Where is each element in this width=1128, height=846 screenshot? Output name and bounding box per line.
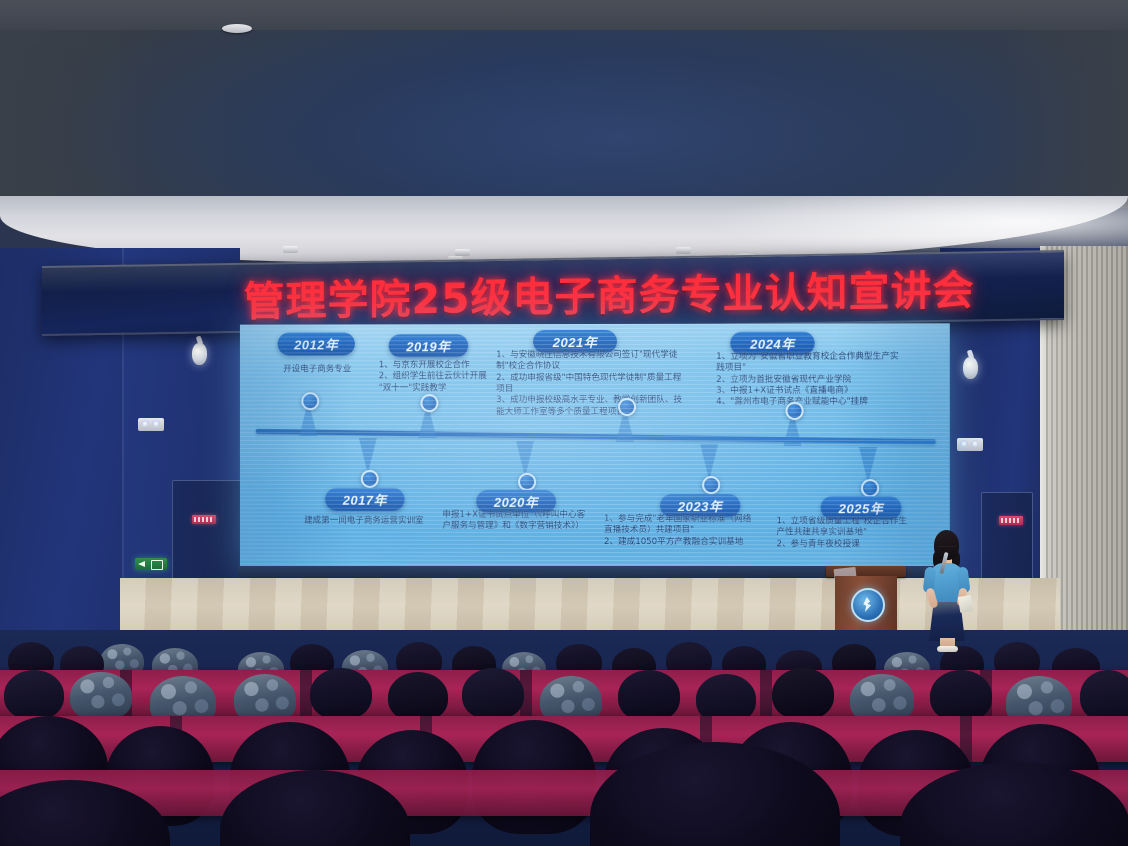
spotlight-icon — [192, 336, 207, 366]
ceiling-recessed-panel — [0, 30, 1128, 208]
emergency-light-icon — [957, 438, 983, 451]
audience-head — [4, 670, 64, 720]
timeline-connector-down — [859, 447, 877, 483]
audience-head — [618, 670, 680, 722]
timeline-node — [786, 402, 804, 420]
exit-sign-icon — [135, 558, 167, 570]
presenter-papers — [958, 595, 973, 613]
timeline-node — [861, 479, 879, 497]
timeline-node — [618, 398, 636, 416]
school-emblem-icon — [851, 588, 885, 622]
audience-head — [388, 672, 448, 722]
emergency-light-icon — [138, 418, 164, 431]
event-text-2021: 1、与安徽晓庄信息技术有限公司签订"现代学徒制"校企合作协议 2、成功申报省级"… — [496, 350, 688, 418]
year-pill-2012: 2012年 — [278, 332, 355, 355]
audience-cap — [70, 672, 132, 720]
event-text-2012: 开设电子商务专业 — [260, 364, 375, 375]
timeline-node — [301, 392, 319, 410]
smoke-detector-icon — [222, 24, 252, 33]
downlight-icon — [676, 247, 691, 254]
timeline-node — [702, 476, 720, 494]
event-text-2025: 1、立项省级质量工程"校企合作生产性共建共享实训基地" 2、参与青年夜校授课 — [776, 516, 913, 550]
led-presentation-screen: 2012年 2019年 2021年 2024年 开设电子商务专业 1、与京东开展… — [240, 323, 950, 572]
event-text-2019: 1、与京东开展校企合作 2、组织学生前往云伙计开展 "双十一"实践教学 — [379, 360, 490, 394]
audience-head — [930, 670, 992, 722]
downlight-icon — [283, 246, 298, 253]
event-text-2020: 申报1+X证书试点单位（《呼叫中心客户服务与管理》和《数字营销技术》） — [442, 510, 590, 533]
downlight-icon — [455, 249, 470, 256]
spotlight-icon — [963, 350, 978, 380]
timeline-connector-down — [516, 441, 534, 477]
audience-head — [772, 668, 834, 720]
glasses-icon — [938, 546, 956, 552]
timeline-node — [420, 394, 438, 412]
audience-head — [1080, 670, 1128, 722]
event-text-2024: 1、立项为"安徽省职业教育校企合作典型生产实践项目" 2、立项为首批安徽省现代产… — [716, 352, 905, 409]
event-text-2023: 1、参与完成"老年国家职业标准（网络直播技术员）共建项目" 2、建成1050平方… — [604, 514, 756, 548]
timeline-connector-down — [359, 438, 377, 474]
year-pill-2017: 2017年 — [325, 488, 404, 511]
timeline-node — [518, 473, 536, 491]
audience-head — [462, 668, 524, 720]
door-warning-sign-icon — [999, 516, 1023, 525]
timeline-node — [361, 470, 379, 488]
timeline-connector-down — [700, 444, 718, 480]
auditorium-scene: 管理学院25级电子商务专业认知宣讲会 2012年 2019年 2021年 202… — [0, 0, 1128, 846]
timeline-axis — [256, 429, 936, 445]
audience-area — [0, 630, 1128, 846]
event-text-2017: 建成第一间电子商务运营实训室 — [297, 516, 430, 527]
presenter-shoes — [937, 646, 958, 652]
year-pill-2019: 2019年 — [389, 334, 469, 357]
audience-head — [310, 668, 372, 720]
door-warning-sign-icon — [192, 515, 216, 524]
seat-gap — [760, 670, 772, 716]
